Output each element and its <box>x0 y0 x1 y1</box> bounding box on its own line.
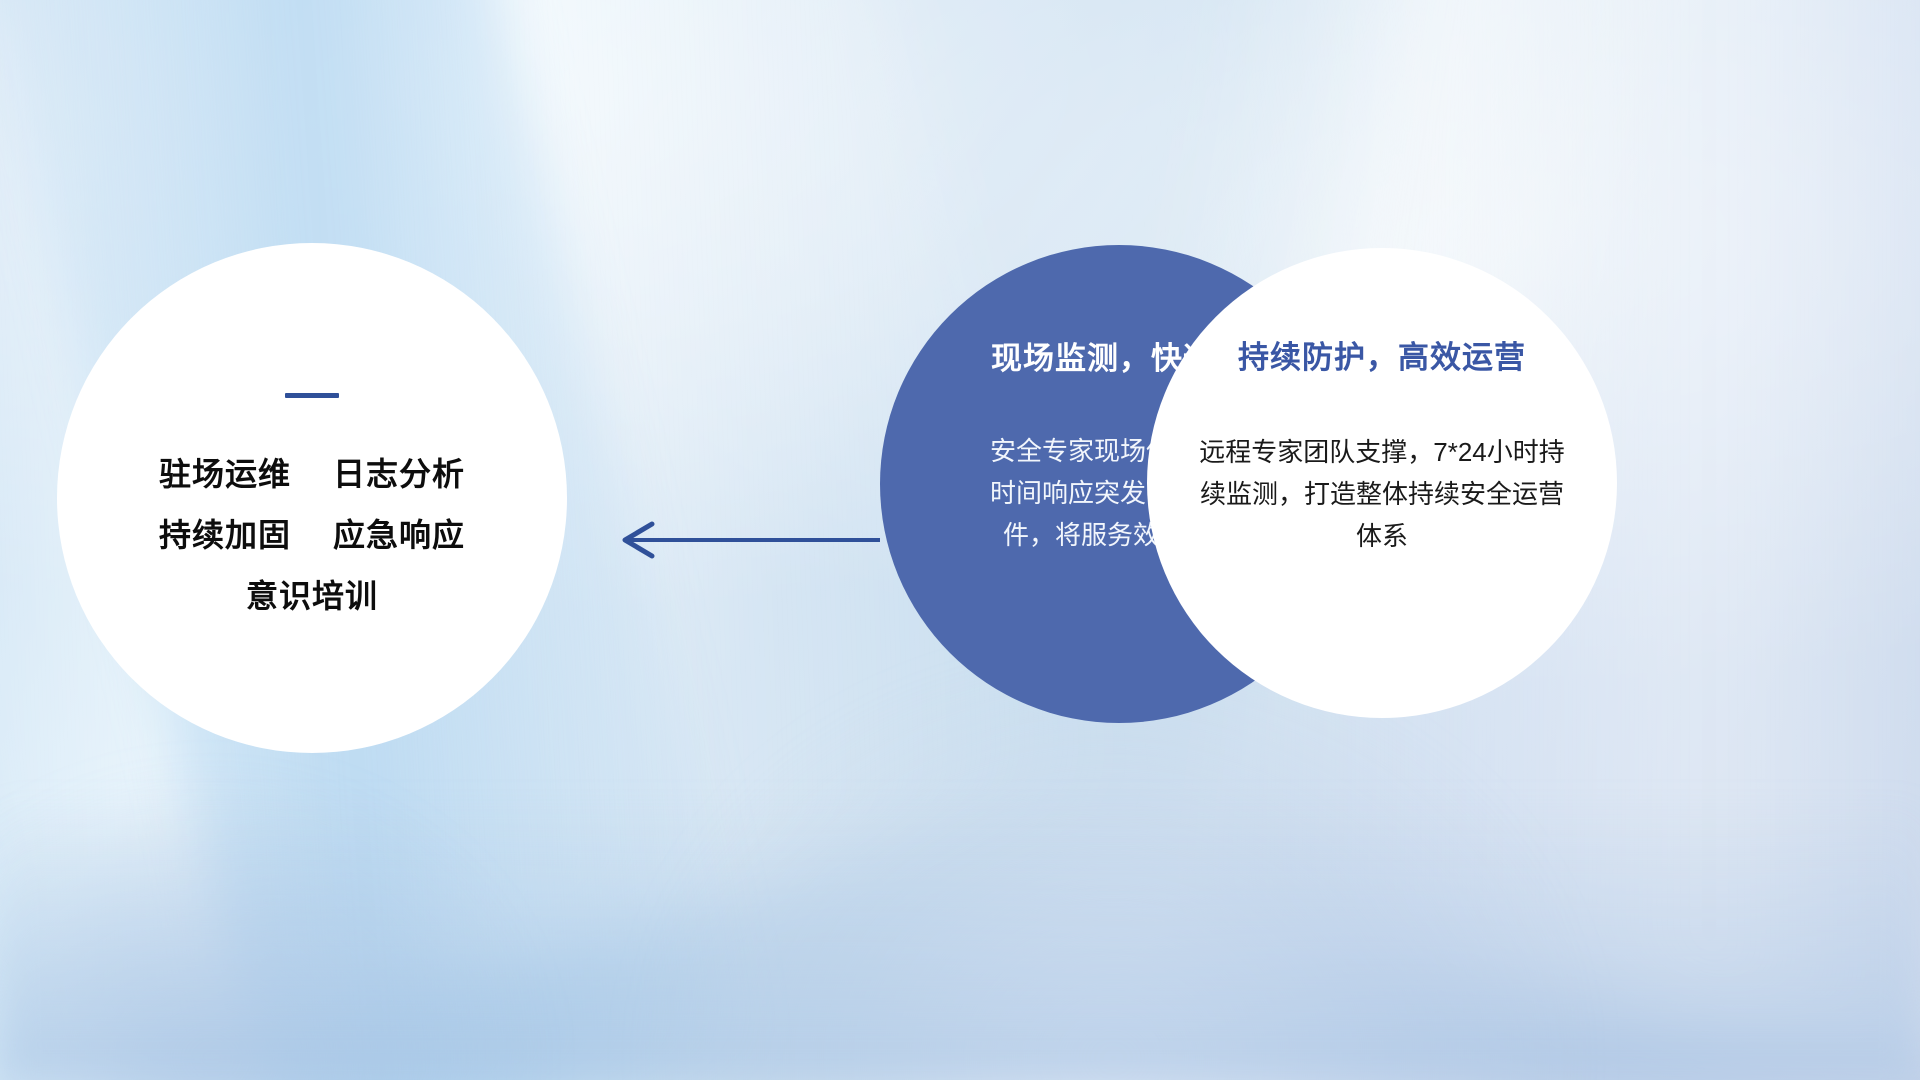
background-glow-bottom-left <box>0 778 538 1080</box>
capability-row-2: 持续加固 应急响应 <box>159 505 465 566</box>
capability-circle-left-content: 驻场运维 日志分析 持续加固 应急响应 意识培训 <box>57 243 567 753</box>
service-circle-right-content: 持续防护，高效运营 远程专家团队支撑，7*24小时持续监测，打造整体持续安全运营… <box>1147 248 1617 718</box>
capability-tag: 日志分析 <box>333 444 465 505</box>
capability-tag: 意识培训 <box>246 566 378 627</box>
service-title-right: 持续防护，高效运营 <box>1238 332 1526 377</box>
capability-tag: 驻场运维 <box>159 444 291 505</box>
divider-dash-icon <box>285 393 339 398</box>
background-glow-bottom-band <box>0 799 1920 1080</box>
connector-arrow <box>612 512 880 568</box>
service-body-right: 远程专家团队支撑，7*24小时持续监测，打造整体持续安全运营体系 <box>1196 431 1568 557</box>
capability-row-3: 意识培训 <box>246 566 378 627</box>
arrow-left-icon <box>612 512 880 568</box>
capability-row-1: 驻场运维 日志分析 <box>159 444 465 505</box>
capability-tag: 持续加固 <box>159 505 291 566</box>
background-glow-bottom-center <box>653 670 1575 1080</box>
slide-canvas: 驻场运维 日志分析 持续加固 应急响应 意识培训 现场监测，快速响应 安全专家现… <box>0 0 1920 1080</box>
capability-tag: 应急响应 <box>333 505 465 566</box>
